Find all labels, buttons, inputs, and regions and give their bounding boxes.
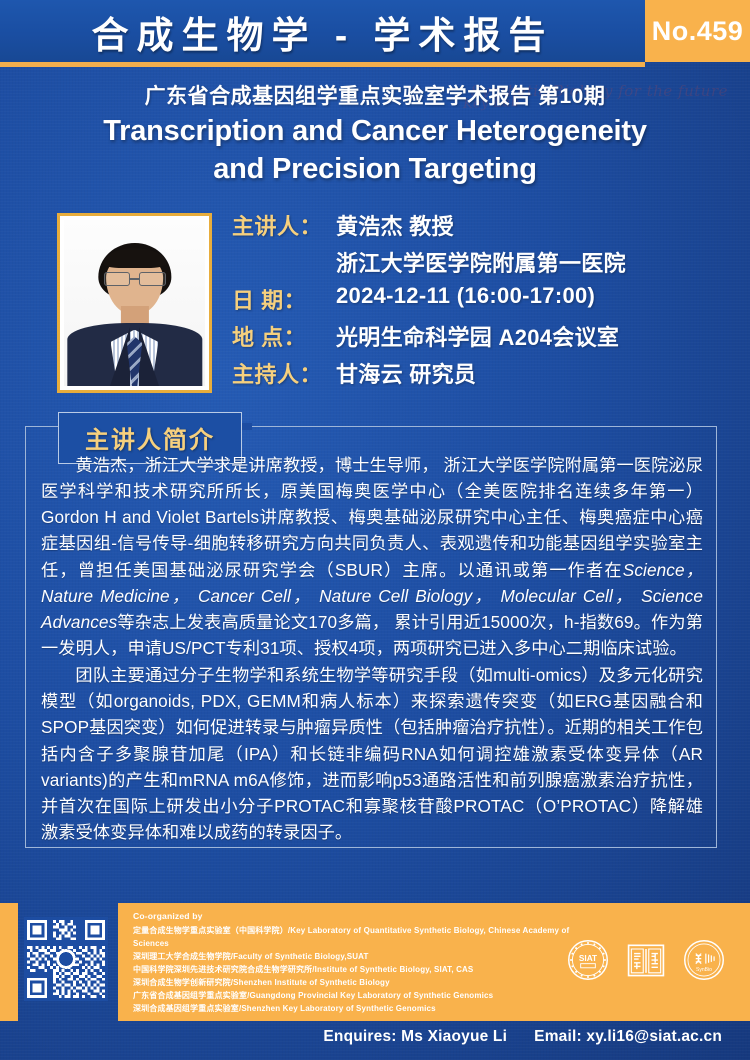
svg-text:SynBio: SynBio [696, 967, 712, 973]
speaker-name: 黄浩杰 教授 [336, 209, 454, 241]
speaker-affiliation-row: 浙江大学医学院附属第一医院 [232, 246, 702, 278]
lecture-title-line1: Transcription and Cancer Heterogeneity [103, 115, 647, 147]
host-row: 主持人： 甘海云 研究员 [232, 357, 702, 389]
gold-divider-rule [0, 62, 645, 67]
lecture-title-line2: and Precision Targeting [60, 151, 690, 189]
poster-header-title: 合成生物学 - 学术报告 [0, 6, 645, 58]
biography-paragraph-2: 团队主要通过分子生物学和系统生物学等研究手段（如multi-omics）及多元化… [41, 662, 703, 845]
co-organizer-list: Co-organized by 定量合成生物学重点实验室（中国科学院）/Key … [133, 910, 573, 1016]
speaker-label: 主讲人： [232, 209, 336, 241]
biography-text: 黄浩杰，浙江大学求是讲席教授，博士生导师， 浙江大学医学院附属第一医院泌尿医学科… [41, 452, 703, 845]
siat-seal-logo-icon: SIAT [566, 938, 610, 982]
co-organized-label: Co-organized by [133, 910, 573, 924]
biography-paragraph-1: 黄浩杰，浙江大学求是讲席教授，博士生导师， 浙江大学医学院附属第一医院泌尿医学科… [41, 452, 703, 661]
host-value: 甘海云 研究员 [336, 357, 476, 389]
partner-logos: SIAT SynBio [566, 938, 726, 982]
organization-item: 定量合成生物学重点实验室（中国科学院）/Key Laboratory of Qu… [133, 925, 573, 951]
date-row: 日 期： 2024-12-11 (16:00-17:00) [232, 283, 702, 315]
date-label: 日 期： [232, 283, 336, 315]
portrait-glasses-icon [103, 272, 165, 285]
enquiry-email[interactable]: Email: xy.li16@siat.ac.cn [534, 1028, 722, 1045]
biography-p1-part-b: 等杂志上发表高质量论文170多篇， 累计引用近15000次，h-指数69。作为第… [41, 612, 703, 658]
synbio-seal-logo-icon: SynBio [682, 938, 726, 982]
qr-code-icon[interactable] [24, 917, 108, 1001]
enquiry-line: Enquires: Ms Xiaoyue Li Email: xy.li16@s… [0, 1028, 722, 1046]
svg-text:SIAT: SIAT [579, 954, 597, 963]
speaker-row: 主讲人： 黄浩杰 教授 [232, 209, 702, 241]
left-accent-strip [0, 903, 18, 1021]
enquiry-contact: Enquires: Ms Xiaoyue Li [323, 1028, 507, 1045]
venue-label: 地 点： [232, 320, 336, 352]
biography-p1-part-a: 黄浩杰，浙江大学求是讲席教授，博士生导师， 浙江大学医学院附属第一医院泌尿医学科… [41, 455, 703, 580]
suat-book-logo-icon [624, 938, 668, 982]
organization-item: 深圳理工大学合成生物学院/Faculty of Synthetic Biolog… [133, 951, 573, 964]
venue-value: 光明生命科学园 A204会议室 [336, 320, 619, 352]
series-subtitle: 广东省合成基因组学重点实验室学术报告 第10期 [0, 80, 750, 110]
organization-item: 深圳合成生物学创新研究院/Shenzhen Institute of Synth… [133, 977, 573, 990]
speaker-photo-frame [57, 213, 212, 393]
venue-row: 地 点： 光明生命科学园 A204会议室 [232, 320, 702, 352]
date-value: 2024-12-11 (16:00-17:00) [336, 283, 595, 309]
speaker-portrait-image [64, 220, 205, 386]
speaker-affiliation: 浙江大学医学院附属第一医院 [336, 246, 626, 278]
organization-item: 深圳合成基因组学重点实验室/Shenzhen Key Laboratory of… [133, 1003, 573, 1016]
event-details: 主讲人： 黄浩杰 教授 浙江大学医学院附属第一医院 日 期： 2024-12-1… [232, 209, 702, 394]
organization-item: 中国科学院深圳先进技术研究院合成生物学研究所/Institute of Synt… [133, 964, 573, 977]
seminar-poster: Synthetic Biology for the future Key Lab… [0, 0, 750, 1060]
lecture-title: Transcription and Cancer Heterogeneity a… [60, 113, 690, 188]
organization-item: 广东省合成基因组学重点实验室/Guangdong Provincial Key … [133, 990, 573, 1003]
host-label: 主持人： [232, 357, 336, 389]
issue-number-badge: No.459 [645, 0, 750, 62]
